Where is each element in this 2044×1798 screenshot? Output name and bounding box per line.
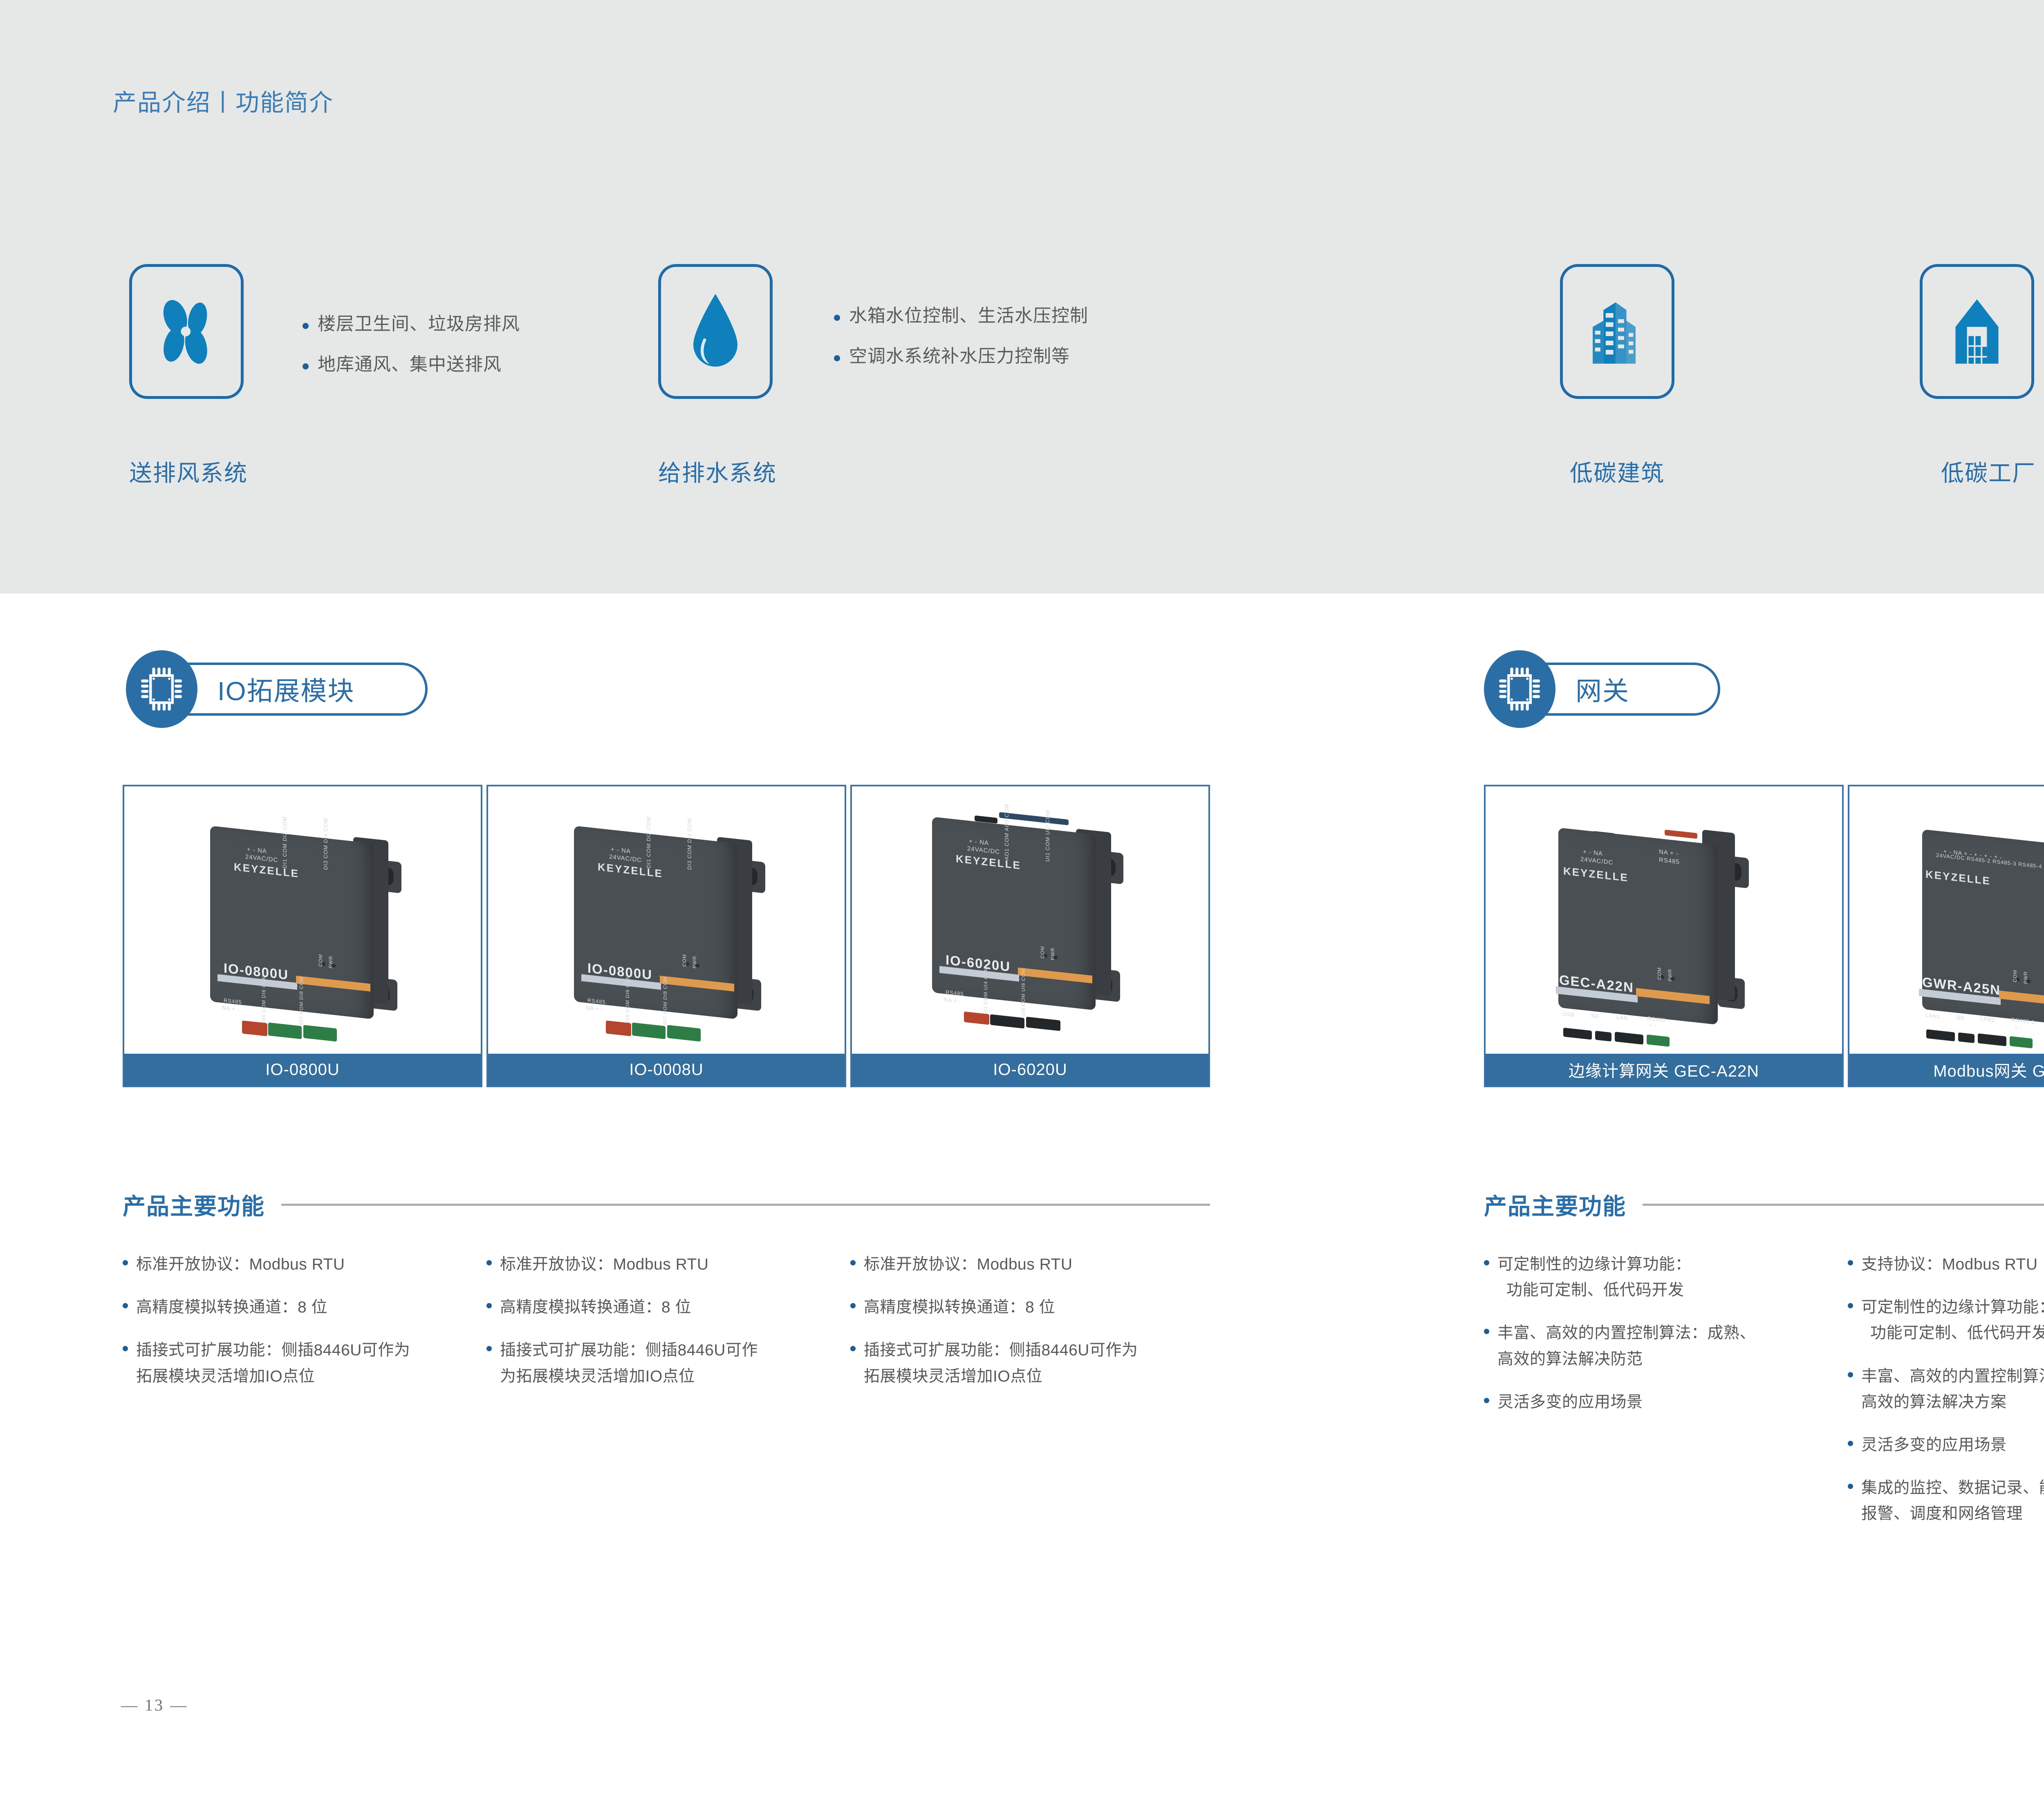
list-item: 标准开放协议：Modbus RTU xyxy=(850,1252,1210,1277)
product-image-gec-a22n: + - NA 24VAC/DC NA + - RS485 KEYZELLE CO… xyxy=(1486,786,1842,1054)
feature-text: 标准开放协议：Modbus RTU xyxy=(136,1252,345,1277)
water-drop-icon xyxy=(687,291,744,372)
list-item: 集成的监控、数据记录、能耗计量、 报警、调度和网络管理 xyxy=(1848,1475,2044,1527)
bullet-dot xyxy=(1848,1260,1853,1265)
feature-text: 支持协议：Modbus RTU xyxy=(1861,1252,2038,1277)
feature-column: 支持协议：Modbus RTU 可定制性的边缘计算功能： 功能可定制、低代码开发… xyxy=(1848,1252,2044,1544)
section-title-io-modules: IO拓展模块 xyxy=(217,670,355,708)
bullet-text: 地库通风、集中送排风 xyxy=(318,354,502,375)
product-image-gwr-a25n: + - NA + - + - + - + - 24VAC/DC RS485-2 … xyxy=(1849,786,2044,1054)
bullet-dot xyxy=(123,1346,128,1351)
feature-text: 插接式可扩展功能：侧插8446U可作 为拓展模块灵活增加IO点位 xyxy=(500,1337,758,1389)
feature-text: 可定制性的边缘计算功能： 功能可定制、低代码开发 xyxy=(1861,1294,2044,1346)
list-item: 可定制性的边缘计算功能： 功能可定制、低代码开发 xyxy=(1848,1294,2044,1346)
list-item: 高精度模拟转换通道：8 位 xyxy=(123,1294,482,1320)
bullet-dot xyxy=(1484,1398,1489,1403)
application-tile-water xyxy=(658,264,773,399)
bullet-dot xyxy=(1848,1484,1853,1489)
bullet-text: 水箱水位控制、生活水压控制 xyxy=(849,306,1088,327)
bullet-dot xyxy=(1484,1329,1489,1334)
list-item: 楼层卫生间、垃圾房排风 xyxy=(303,314,520,335)
section-header-io-modules: IO拓展模块 xyxy=(126,650,437,728)
application-label-ventilation: 送排风系统 xyxy=(129,455,248,488)
product-card[interactable]: + - NA 24VAC/DC DI1 COM DI2 COM DI3 COM … xyxy=(123,785,482,1087)
bullet-dot xyxy=(850,1260,856,1265)
application-label-low-carbon-building: 低碳建筑 xyxy=(1570,455,1665,488)
chip-icon xyxy=(126,650,197,728)
product-card[interactable]: + - NA + - + - + - + - 24VAC/DC RS485-2 … xyxy=(1848,785,2044,1087)
product-image-io-6020u: + - NA 24VAC/DC AO1 COM AO2 COM UI1 COM … xyxy=(852,786,1208,1054)
list-item: 插接式可扩展功能：侧插8446U可作 为拓展模块灵活增加IO点位 xyxy=(486,1337,846,1389)
feature-text: 插接式可扩展功能：侧插8446U可作为 拓展模块灵活增加IO点位 xyxy=(864,1337,1138,1389)
bullet-dot xyxy=(123,1260,128,1265)
application-label-water: 给排水系统 xyxy=(658,455,777,488)
bullet-dot xyxy=(303,323,309,329)
feature-column: 标准开放协议：Modbus RTU 高精度模拟转换通道：8 位 插接式可扩展功能… xyxy=(486,1252,846,1406)
list-item: 高精度模拟转换通道：8 位 xyxy=(486,1294,846,1320)
office-building-icon xyxy=(1587,293,1648,370)
feature-text: 高精度模拟转换通道：8 位 xyxy=(500,1294,691,1320)
feature-text: 灵活多变的应用场景 xyxy=(1497,1389,1643,1415)
product-card[interactable]: + - NA 24VAC/DC DI1 COM DI2 COM DI3 COM … xyxy=(486,785,846,1087)
bullet-dot xyxy=(486,1260,492,1265)
bullet-dot xyxy=(1484,1260,1489,1265)
feature-text: 标准开放协议：Modbus RTU xyxy=(500,1252,709,1277)
application-bullets-water: 水箱水位控制、生活水压控制 空调水系统补水压力控制等 xyxy=(834,306,1088,386)
feature-text: 插接式可扩展功能：侧插8446U可作为 拓展模块灵活增加IO点位 xyxy=(136,1337,410,1389)
products-region: IO拓展模块 xyxy=(0,593,2044,1798)
chip-icon xyxy=(1484,650,1555,728)
bullet-text: 空调水系统补水压力控制等 xyxy=(849,346,1070,367)
feature-text: 灵活多变的应用场景 xyxy=(1861,1432,2007,1458)
application-tile-ventilation xyxy=(129,264,244,399)
bullet-dot xyxy=(1848,1441,1853,1446)
list-item: 可定制性的边缘计算功能： 功能可定制、低代码开发 xyxy=(1484,1252,1844,1303)
brochure-page: 产品介绍丨功能简介 产品介绍丨功能简介 送排风系统 楼层 xyxy=(0,0,2044,1798)
list-item: 支持协议：Modbus RTU xyxy=(1848,1252,2044,1277)
bullet-dot xyxy=(850,1346,856,1351)
application-label-low-carbon-factory: 低碳工厂 xyxy=(1941,455,2036,488)
section-header-gateways: 网关 xyxy=(1484,650,1737,728)
feature-column: 可定制性的边缘计算功能： 功能可定制、低代码开发 丰富、高效的内置控制算法：成熟… xyxy=(1484,1252,1844,1432)
bullet-dot xyxy=(1848,1303,1853,1308)
section-pill-body: IO拓展模块 xyxy=(162,663,428,716)
product-card[interactable]: + - NA 24VAC/DC NA + - RS485 KEYZELLE CO… xyxy=(1484,785,1844,1087)
list-item: 空调水系统补水压力控制等 xyxy=(834,346,1088,367)
list-item: 水箱水位控制、生活水压控制 xyxy=(834,306,1088,327)
bullet-dot xyxy=(486,1303,492,1308)
list-item: 标准开放协议：Modbus RTU xyxy=(486,1252,846,1277)
bullet-dot xyxy=(834,355,840,361)
feature-text: 集成的监控、数据记录、能耗计量、 报警、调度和网络管理 xyxy=(1861,1475,2044,1527)
feature-text: 丰富、高效的内置控制算法：成熟、 高效的算法解决防范 xyxy=(1497,1320,1756,1372)
feature-text: 标准开放协议：Modbus RTU xyxy=(864,1252,1073,1277)
page-number-left: — 13 — xyxy=(121,1695,188,1715)
bullet-dot xyxy=(486,1346,492,1351)
applications-band: 产品介绍丨功能简介 产品介绍丨功能简介 送排风系统 楼层 xyxy=(0,0,2044,593)
divider xyxy=(1643,1204,2044,1206)
list-item: 插接式可扩展功能：侧插8446U可作为 拓展模块灵活增加IO点位 xyxy=(123,1337,482,1389)
feature-text: 高精度模拟转换通道：8 位 xyxy=(136,1294,327,1320)
product-caption: IO-0800U xyxy=(124,1054,481,1086)
bullet-dot xyxy=(1848,1372,1853,1377)
features-heading-gateways: 产品主要功能 xyxy=(1484,1188,2044,1221)
features-title: 产品主要功能 xyxy=(123,1188,265,1221)
list-item: 地库通风、集中送排风 xyxy=(303,354,520,375)
product-caption: IO-0008U xyxy=(488,1054,845,1086)
section-title-gateways: 网关 xyxy=(1576,670,1629,708)
list-item: 灵活多变的应用场景 xyxy=(1484,1389,1844,1415)
application-tile-low-carbon-building xyxy=(1560,264,1674,399)
feature-column: 标准开放协议：Modbus RTU 高精度模拟转换通道：8 位 插接式可扩展功能… xyxy=(850,1252,1210,1406)
product-card[interactable]: + - NA 24VAC/DC AO1 COM AO2 COM UI1 COM … xyxy=(850,785,1210,1087)
features-title: 产品主要功能 xyxy=(1484,1188,1626,1221)
divider xyxy=(281,1204,1210,1206)
bullet-dot xyxy=(834,315,840,321)
list-item: 标准开放协议：Modbus RTU xyxy=(123,1252,482,1277)
product-caption: Modbus网关 GWR-A25N xyxy=(1849,1054,2044,1086)
list-item: 灵活多变的应用场景 xyxy=(1848,1432,2044,1458)
list-item: 插接式可扩展功能：侧插8446U可作为 拓展模块灵活增加IO点位 xyxy=(850,1337,1210,1389)
factory-icon xyxy=(1946,293,2008,370)
feature-text: 高精度模拟转换通道：8 位 xyxy=(864,1294,1055,1320)
list-item: 高精度模拟转换通道：8 位 xyxy=(850,1294,1210,1320)
feature-text: 可定制性的边缘计算功能： 功能可定制、低代码开发 xyxy=(1497,1252,1691,1303)
product-caption: 边缘计算网关 GEC-A22N xyxy=(1486,1054,1842,1086)
fan-icon xyxy=(152,293,221,370)
product-image-io-0800u: + - NA 24VAC/DC DI1 COM DI2 COM DI3 COM … xyxy=(124,786,481,1054)
product-caption: IO-6020U xyxy=(852,1054,1208,1086)
application-tile-low-carbon-factory xyxy=(1920,264,2034,399)
bullet-text: 楼层卫生间、垃圾房排风 xyxy=(318,314,520,335)
list-item: 丰富、高效的内置控制算法：成熟、 高效的算法解决方案 xyxy=(1848,1364,2044,1415)
bullet-dot xyxy=(123,1303,128,1308)
product-image-io-0008u: + - NA 24VAC/DC DI1 COM DI2 COM DI3 COM … xyxy=(488,786,845,1054)
bullet-dot xyxy=(303,363,309,369)
features-heading-io: 产品主要功能 xyxy=(123,1188,1210,1221)
feature-column: 标准开放协议：Modbus RTU 高精度模拟转换通道：8 位 插接式可扩展功能… xyxy=(123,1252,482,1406)
list-item: 丰富、高效的内置控制算法：成熟、 高效的算法解决防范 xyxy=(1484,1320,1844,1372)
bullet-dot xyxy=(850,1303,856,1308)
page-header-left: 产品介绍丨功能简介 xyxy=(113,83,334,118)
feature-text: 丰富、高效的内置控制算法：成熟、 高效的算法解决方案 xyxy=(1861,1364,2044,1415)
application-bullets-ventilation: 楼层卫生间、垃圾房排风 地库通风、集中送排风 xyxy=(303,314,520,394)
